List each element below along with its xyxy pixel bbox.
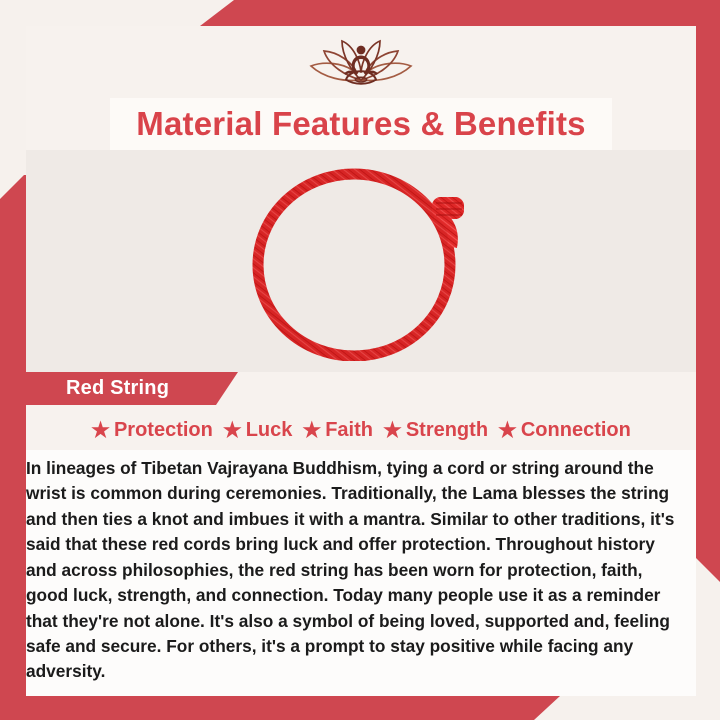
material-flag: Red String xyxy=(26,372,238,405)
benefits-row: ★ Protection ★ Luck ★ Faith ★ Strength ★… xyxy=(26,411,696,449)
benefit-luck: ★ Luck xyxy=(218,419,298,442)
material-flag-label: Red String xyxy=(66,377,169,400)
lotus-meditation-icon xyxy=(302,34,420,92)
benefit-label: Strength xyxy=(406,419,488,442)
benefit-strength: ★ Strength xyxy=(378,419,493,442)
card-inner-canvas: BUDDHA STONES Material Features & Benefi… xyxy=(26,26,696,696)
benefit-label: Faith xyxy=(325,419,373,442)
infographic-card: BUDDHA STONES Material Features & Benefi… xyxy=(0,0,720,720)
star-icon: ★ xyxy=(223,420,242,441)
product-photo xyxy=(26,150,696,372)
benefit-connection: ★ Connection xyxy=(493,419,636,442)
star-icon: ★ xyxy=(302,420,321,441)
description-text: In lineages of Tibetan Vajrayana Buddhis… xyxy=(26,456,682,685)
benefit-protection: ★ Protection xyxy=(86,419,218,442)
decorative-band-top xyxy=(200,0,720,26)
title-banner: Material Features & Benefits xyxy=(110,98,612,150)
star-icon: ★ xyxy=(498,420,517,441)
star-icon: ★ xyxy=(383,420,402,441)
bracelet-knot xyxy=(432,197,464,219)
page-title: Material Features & Benefits xyxy=(136,105,585,143)
decorative-band-bottom xyxy=(0,696,560,720)
red-string-bracelet-photo xyxy=(236,161,486,361)
benefit-label: Protection xyxy=(114,419,213,442)
decorative-band-right xyxy=(696,26,720,582)
description-panel: In lineages of Tibetan Vajrayana Buddhis… xyxy=(26,450,696,696)
star-icon: ★ xyxy=(91,420,110,441)
benefit-faith: ★ Faith xyxy=(297,419,378,442)
decorative-band-left xyxy=(0,175,26,720)
benefit-label: Luck xyxy=(246,419,293,442)
benefit-label: Connection xyxy=(521,419,631,442)
